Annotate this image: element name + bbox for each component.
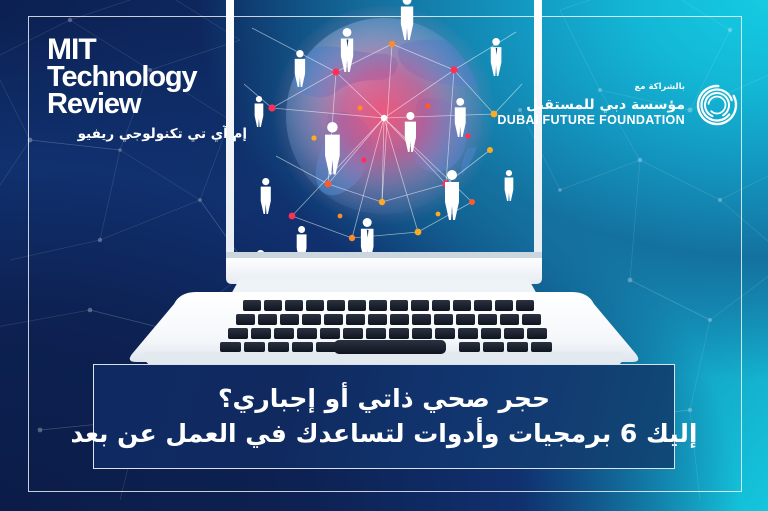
headline-line-1: حجر صحي ذاتي أو إجباري؟ [218,384,550,415]
partner-name-english: DUBAI FUTURE FOUNDATION [497,113,685,127]
logo-line-mit: MIT [47,36,247,64]
partner-text-block: بالشراكة مع مؤسسة دبي للمستقبل DUBAI FUT… [497,82,685,127]
logo-arabic-subtitle: إم آي تي تكنولوجي ريفيو [106,126,247,142]
logo-line-review: Review [47,91,247,118]
laptop-screen-content [232,0,536,260]
partner-name-arabic: مؤسسة دبي للمستقبل [497,97,685,113]
poster-canvas: MIT Technology Review إم آي تي تكنولوجي … [0,0,768,511]
spiral-ring-icon [694,82,740,128]
logo-line-technology: Technology [47,64,247,91]
dubai-future-foundation-lockup: بالشراكة مع مؤسسة دبي للمستقبل DUBAI FUT… [497,74,740,136]
globe-icon [232,0,536,260]
headline-banner: حجر صحي ذاتي أو إجباري؟ إليك 6 برمجيات و… [93,364,675,469]
headline-line-2: إليك 6 برمجيات وأدوات لتساعدك في العمل ع… [71,419,698,450]
mit-technology-review-logo: MIT Technology Review إم آي تي تكنولوجي … [47,36,247,142]
partner-label: بالشراكة مع [497,82,685,92]
